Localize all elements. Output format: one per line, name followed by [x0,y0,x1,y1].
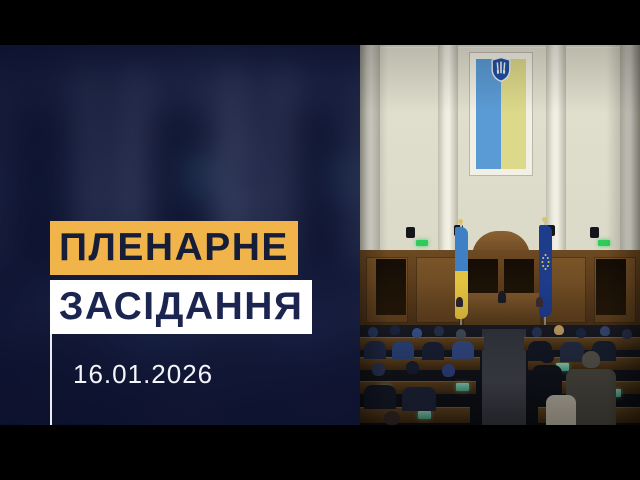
mp-figure [576,328,586,338]
mp-figure [560,342,584,362]
wall-bay [378,47,440,252]
vertical-accent-rule [50,334,52,425]
video-content-band: ПЛЕНАРНЕ ЗАСІДАННЯ 16.01.2026 [0,45,640,425]
mp-figure [532,365,562,395]
mp-figure [434,326,444,336]
mp-figure [422,342,444,360]
chamber-speaker [498,291,506,303]
ukraine-trident-shield-icon [491,57,511,82]
mp-figure [582,351,600,368]
mp-figure [442,364,455,377]
date-row: 16.01.2026 [50,334,340,425]
mp-figure [368,327,378,337]
presidium-official [456,297,463,307]
desk-monitor [418,411,431,419]
rostrum-panel [416,257,460,323]
mp-figure [532,327,542,337]
broadcast-date: 16.01.2026 [73,361,213,387]
mp-figure [546,395,576,425]
chamber-spotlight [406,227,415,238]
mp-figure [364,385,396,409]
mp-figure [622,329,632,339]
chamber-central-aisle [482,329,526,425]
flagpole-finial [458,219,463,224]
right-chamber-photo-panel [360,45,640,425]
mp-figure [372,363,385,376]
wall-bay [562,47,624,252]
desk-monitor [456,383,469,391]
wall-pilaster [360,45,380,260]
exit-sign-icon [416,240,428,246]
flagpole-finial [542,217,547,222]
chamber-doorway [596,259,626,315]
headline-primary: ПЛЕНАРНЕ [50,221,298,275]
mp-figure [390,325,400,335]
mp-figure [600,326,610,336]
presidium-official [536,297,543,307]
backdrop-flag-frame [470,53,532,175]
headline-secondary: ЗАСІДАННЯ [50,280,312,334]
exit-sign-icon [598,240,610,246]
mp-figure [540,349,554,363]
chamber-spotlight [590,227,599,238]
mp-figure [452,341,474,359]
mp-figure [406,361,419,374]
headline-secondary-wrap: ЗАСІДАННЯ [50,280,340,334]
mp-figure [364,341,386,359]
mp-figure [412,328,422,338]
mp-figure [456,329,466,339]
mp-figure [402,387,436,411]
mp-figure [392,341,414,359]
mp-figure [384,411,400,425]
wall-pilaster [620,45,640,260]
broadcast-frame: ПЛЕНАРНЕ ЗАСІДАННЯ 16.01.2026 [0,0,640,480]
letterbox-bar-top [0,0,640,45]
title-lockup: ПЛЕНАРНЕ ЗАСІДАННЯ 16.01.2026 [50,221,340,425]
mp-figure [554,325,564,335]
chamber-doorway [376,259,406,315]
letterbox-bar-bottom [0,425,640,480]
